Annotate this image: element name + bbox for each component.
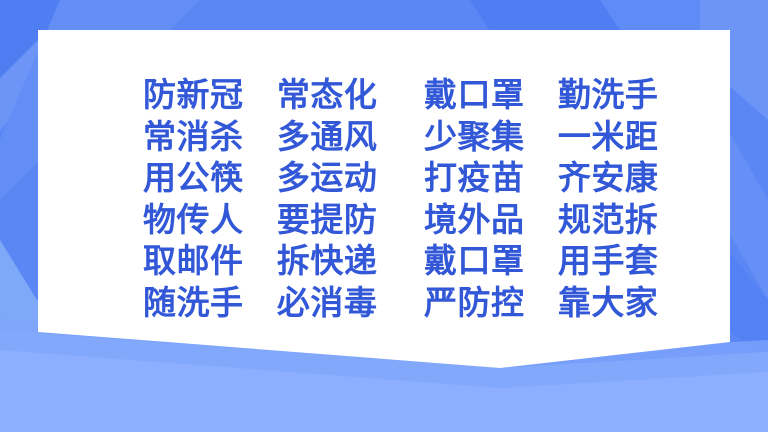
slogan-line: 取邮件 拆快递 [143,240,377,282]
slogan-segment-first: 戴口罩 [424,74,525,116]
slogan-segment-second: 常态化 [277,74,378,116]
slogan-segment-first: 常消杀 [143,116,244,158]
slogan-segment-first: 防新冠 [143,74,244,116]
slogan-line: 严防控 靠大家 [424,282,658,324]
slogan-segment-second: 必消毒 [277,282,378,324]
slogan-segment-first: 随洗手 [143,282,244,324]
slogan-line: 物传人 要提防 [143,199,377,241]
slogan-column-right: 戴口罩 勤洗手 少聚集 一米距 打疫苗 齐安康 境外品 规范拆 戴口罩 [424,74,658,323]
slogan-segment-second: 用手套 [558,240,659,282]
slogan-line: 防新冠 常态化 [143,74,377,116]
slogan-line: 少聚集 一米距 [424,116,658,158]
slogan-segment-second: 一米距 [558,116,659,158]
slogan-segment-first: 物传人 [143,199,244,241]
slogan-segment-first: 打疫苗 [424,157,525,199]
slogan-segment-second: 齐安康 [558,157,659,199]
slogan-segment-first: 少聚集 [424,116,525,158]
slogan-segment-second: 拆快递 [277,240,378,282]
slogan-line: 境外品 规范拆 [424,199,658,241]
slogan-segment-first: 严防控 [424,282,525,324]
slogan-segment-first: 境外品 [424,199,525,241]
slogan-segment-second: 规范拆 [558,199,659,241]
slogan-segment-second: 多通风 [277,116,378,158]
poster-slide: 防新冠 常态化 常消杀 多通风 用公筷 多运动 物传人 要提防 取邮件 [0,0,768,432]
slogan-segment-first: 用公筷 [143,157,244,199]
slogan-segment-second: 靠大家 [558,282,659,324]
slogan-line: 随洗手 必消毒 [143,282,377,324]
slogan-segment-second: 勤洗手 [558,74,659,116]
slogan-segment-first: 戴口罩 [424,240,525,282]
slogan-line: 戴口罩 勤洗手 [424,74,658,116]
slogan-line: 常消杀 多通风 [143,116,377,158]
slogan-column-left: 防新冠 常态化 常消杀 多通风 用公筷 多运动 物传人 要提防 取邮件 [143,74,377,323]
slogan-text-area: 防新冠 常态化 常消杀 多通风 用公筷 多运动 物传人 要提防 取邮件 [0,0,768,432]
slogan-segment-second: 要提防 [277,199,378,241]
slogan-line: 用公筷 多运动 [143,157,377,199]
slogan-segment-second: 多运动 [277,157,378,199]
slogan-line: 打疫苗 齐安康 [424,157,658,199]
slogan-line: 戴口罩 用手套 [424,240,658,282]
slogan-segment-first: 取邮件 [143,240,244,282]
